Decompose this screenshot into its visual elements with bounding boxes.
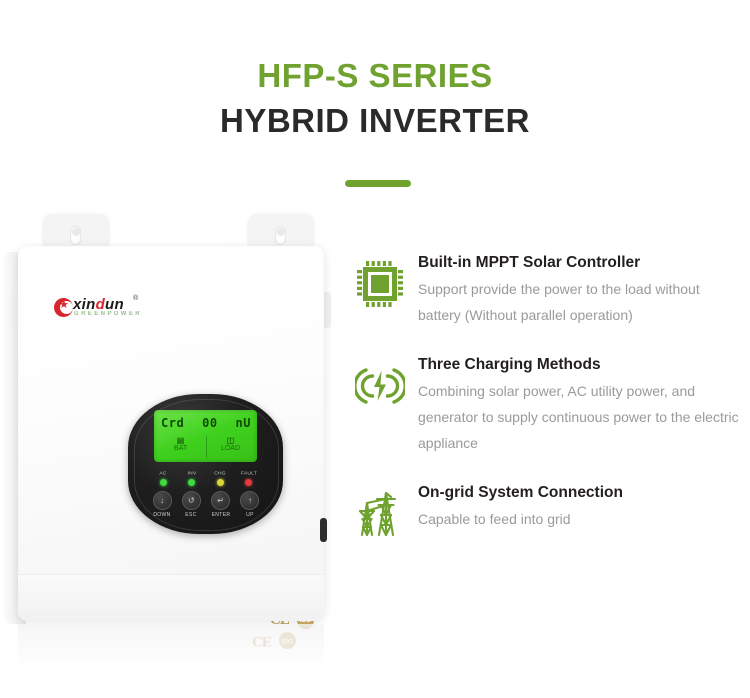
side-port-connector [320,518,327,542]
reflection-iso-mark-icon: ISO [279,632,296,649]
lcd-icon-row: ▤ BAT ◫ LOAD [174,437,240,453]
feature-body-mppt: Built-in MPPT Solar Controller Support p… [408,252,742,328]
enter-icon: ↵ [211,491,230,510]
logo-tagline: GREENPOWER [74,311,142,317]
logo-star-icon: ★ [59,300,69,311]
charging-bolt-icon [352,358,408,414]
brand-logo: ★ xindun ® GREENPOWER [54,296,166,326]
mounting-tab-right [248,214,314,248]
feature-title-mppt: Built-in MPPT Solar Controller [418,252,742,274]
control-panel: Crd 00 nU ▤ BAT ◫ LOAD [128,394,283,534]
case-bottom-edge [18,574,324,621]
page-title-product: HYBRID INVERTER [0,98,750,144]
lcd-segment-center: 00 [202,416,217,430]
feature-desc-ongrid: Capable to feed into grid [418,506,742,532]
feature-item-mppt: Built-in MPPT Solar Controller Support p… [352,252,742,328]
led-indicator-row: AC INV CHG FAULT [152,472,260,486]
up-button-label: UP [233,512,267,518]
mounting-tab-left [43,214,109,248]
up-button[interactable]: ↑ UP [238,491,262,516]
led-indicator-fault: FAULT [238,472,260,486]
led-label-chg: CHG [205,470,235,477]
feature-list: Built-in MPPT Solar Controller Support p… [352,252,742,568]
esc-icon: ↺ [182,491,201,510]
lcd-display[interactable]: Crd 00 nU ▤ BAT ◫ LOAD [154,410,257,462]
feature-item-charging: Three Charging Methods Combining solar p… [352,354,742,456]
inverter-front-case: ★ xindun ® GREENPOWER Crd 00 nU ▤ BAT [18,246,324,620]
led-indicator-chg: CHG [209,472,231,486]
feature-desc-charging: Combining solar power, AC utility power,… [418,378,742,456]
reflection-certification-marks: CE ISO [252,632,296,649]
esc-button[interactable]: ↺ ESC [179,491,203,516]
feature-body-charging: Three Charging Methods Combining solar p… [408,354,742,456]
lcd-segment-right: nU [236,416,251,430]
up-icon: ↑ [240,491,259,510]
led-dot-chg [217,479,224,486]
page-header: HFP-S SERIES HYBRID INVERTER [0,54,750,144]
feature-title-ongrid: On-grid System Connection [418,482,742,504]
mounting-hole-right [275,226,286,245]
esc-button-label: ESC [175,512,209,518]
mounting-hole-left [70,226,81,245]
led-label-inv: INV [177,470,207,477]
down-icon: ↓ [153,491,172,510]
led-indicator-ac: AC [152,472,174,486]
feature-title-charging: Three Charging Methods [418,354,742,376]
led-dot-inv [188,479,195,486]
down-button[interactable]: ↓ DOWN [150,491,174,516]
lcd-battery-icon: ▤ BAT [174,437,187,453]
led-dot-ac [160,479,167,486]
page-title-series: HFP-S SERIES [0,54,750,98]
feature-body-ongrid: On-grid System Connection Capable to fee… [408,482,742,532]
lcd-segment-left: Crd [161,416,184,430]
power-pylon-icon [352,486,408,542]
feature-desc-mppt: Support provide the power to the load wi… [418,276,742,328]
feature-item-ongrid: On-grid System Connection Capable to fee… [352,482,742,542]
lcd-segment-row: Crd 00 nU [161,416,251,430]
logo-registered-mark: ® [133,295,138,302]
button-row: ↓ DOWN ↺ ESC ↵ ENTER ↑ UP [150,491,262,516]
lcd-load-icon: ◫ LOAD [221,437,240,453]
enter-button[interactable]: ↵ ENTER [209,491,233,516]
title-divider [345,180,411,187]
reflection-ce-mark-icon: CE [252,632,271,649]
led-label-fault: FAULT [234,470,264,477]
product-image: ★ xindun ® GREENPOWER Crd 00 nU ▤ BAT [0,200,340,670]
chip-icon [352,256,408,312]
led-label-ac: AC [148,470,178,477]
led-dot-fault [245,479,252,486]
led-indicator-inv: INV [181,472,203,486]
